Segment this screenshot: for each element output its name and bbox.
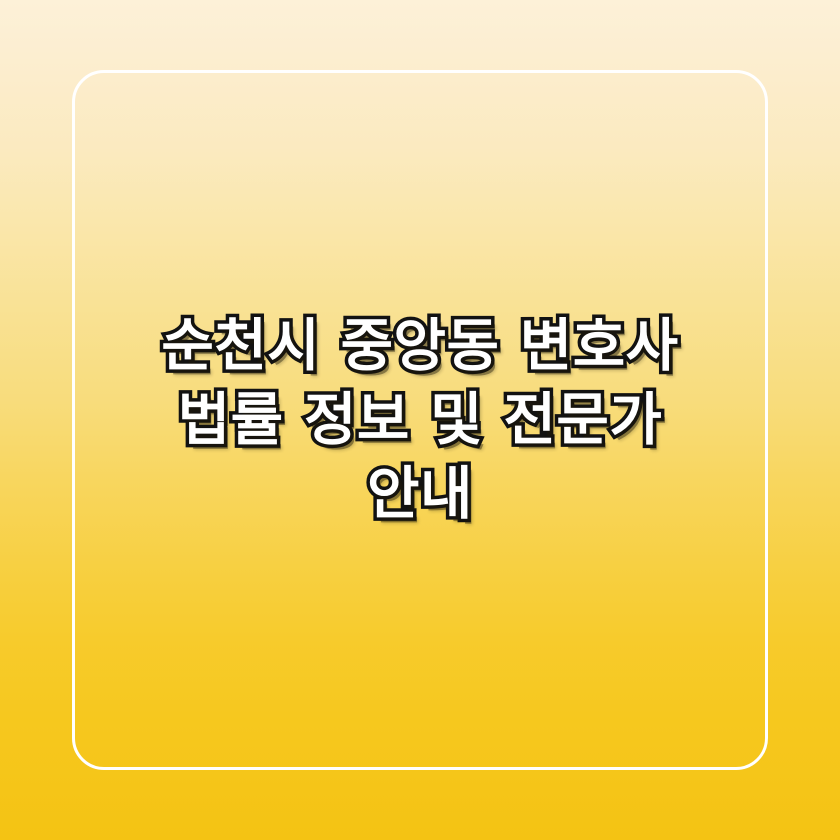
headline-line-2: 법률 정보 및 전문가 — [110, 383, 730, 457]
headline-block: 순천시 중앙동 변호사 법률 정보 및 전문가 안내 — [0, 0, 840, 840]
headline-line-1: 순천시 중앙동 변호사 — [110, 309, 730, 383]
banner-card: 순천시 중앙동 변호사 법률 정보 및 전문가 안내 — [0, 0, 840, 840]
headline-line-3: 안내 — [110, 457, 730, 531]
